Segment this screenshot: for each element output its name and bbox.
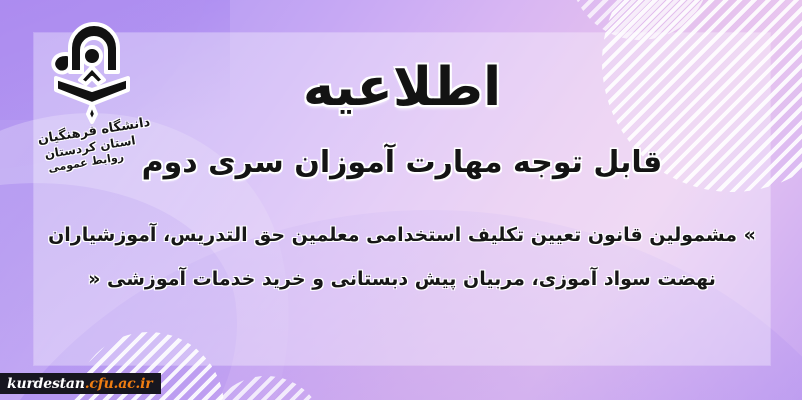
website-url-tld: .cfu.ac.ir [85, 376, 153, 392]
body-line-1: » مشمولین قانون تعیین تکلیف استخدامی معل… [48, 213, 756, 257]
poster-body-text: » مشمولین قانون تعیین تکلیف استخدامی معل… [48, 213, 756, 301]
announcement-poster: دانشگاه فرهنگیان استان کردستان روابط عمو… [0, 0, 802, 400]
poster-subheadline: قابل توجه مهارت آموزان سری دوم [34, 145, 770, 180]
poster-content: اطلاعیه قابل توجه مهارت آموزان سری دوم »… [34, 33, 770, 365]
website-url-badge[interactable]: kurdestan.cfu.ac.ir [0, 373, 161, 394]
poster-headline: اطلاعیه [34, 57, 770, 118]
website-url-main: kurdestan [7, 376, 85, 392]
body-line-2: نهضت سواد آموزی، مربیان پیش دبستانی و خر… [48, 257, 756, 301]
